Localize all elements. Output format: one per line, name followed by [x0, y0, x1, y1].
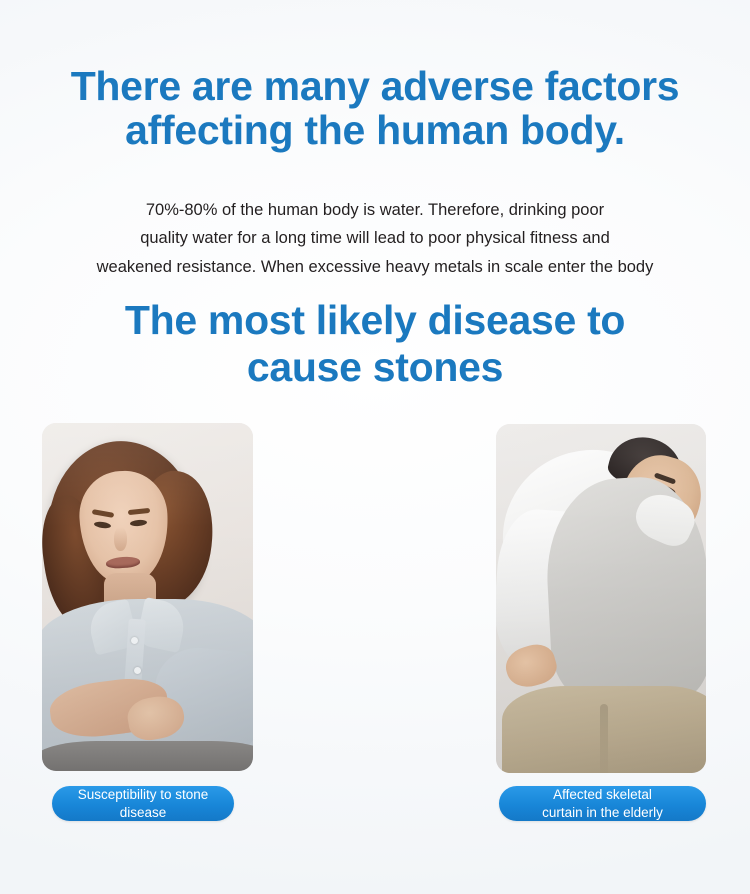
trousers-fold	[600, 704, 608, 773]
caption-left-line-2: disease	[78, 804, 209, 821]
caption-right-line-2: curtain in the elderly	[542, 804, 663, 821]
caption-left-line-1: Susceptibility to stone	[78, 786, 209, 803]
caption-pill-skeletal-elderly: Affected skeletal curtain in the elderly	[499, 786, 706, 821]
caption-pill-stone-disease: Susceptibility to stone disease	[52, 786, 234, 821]
intro-paragraph-line-2: quality water for a long time will lead …	[20, 224, 730, 252]
headline-secondary-line-2: cause stones	[40, 344, 710, 391]
headline-primary: There are many adverse factors affecting…	[0, 64, 750, 153]
headline-secondary-line-1: The most likely disease to	[40, 297, 710, 344]
shirt-button-lower	[134, 667, 141, 674]
skirt-shape	[42, 741, 253, 771]
intro-paragraph-line-3: weakened resistance. When excessive heav…	[20, 253, 730, 281]
intro-paragraph: 70%-80% of the human body is water. Ther…	[0, 196, 750, 281]
headline-primary-line-2: affecting the human body.	[22, 108, 728, 152]
photo-card-skeletal-elderly	[496, 424, 706, 773]
photo-woman-abdominal-pain	[42, 423, 253, 771]
intro-paragraph-line-1: 70%-80% of the human body is water. Ther…	[20, 196, 730, 224]
shirt-button-upper	[131, 637, 138, 644]
headline-secondary: The most likely disease to cause stones	[0, 297, 750, 391]
headline-primary-line-1: There are many adverse factors	[22, 64, 728, 108]
caption-right-line-1: Affected skeletal	[542, 786, 663, 803]
nose-shape	[114, 527, 127, 551]
photo-card-stone-disease	[42, 423, 253, 771]
photo-elderly-back-pain	[496, 424, 706, 773]
infographic-page: There are many adverse factors affecting…	[0, 0, 750, 894]
